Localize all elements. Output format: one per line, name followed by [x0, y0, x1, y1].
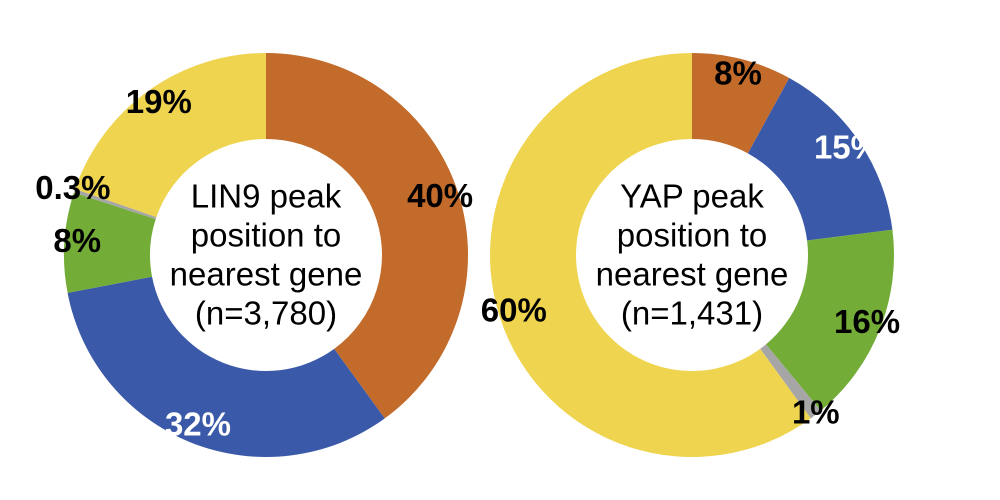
center-title-line: position to: [191, 217, 341, 254]
slice-label-lin9-1: 32%: [165, 406, 231, 443]
slice-label-lin9-3: 0.3%: [35, 169, 110, 206]
slice-label-yap-2: 16%: [834, 303, 900, 340]
slice-label-lin9-2: 8%: [53, 222, 101, 259]
center-title-line: (n=3,780): [195, 295, 337, 332]
slice-label-yap-3: 1%: [792, 393, 840, 430]
slice-label-yap-0: 8%: [714, 55, 762, 92]
figure-canvas: 40%32%8%0.3%19%LIN9 peakposition toneare…: [0, 0, 1000, 500]
slice-label-yap-1: 15%: [814, 128, 880, 165]
slice-label-lin9-4: 19%: [126, 83, 192, 120]
center-title-line: nearest gene: [596, 256, 789, 293]
donut-chart-yap: 8%15%16%1%60%YAP peakposition tonearest …: [481, 53, 900, 457]
center-title-yap: YAP peakposition tonearest gene(n=1,431): [596, 178, 789, 332]
center-title-line: position to: [617, 217, 767, 254]
donut-chart-lin9: 40%32%8%0.3%19%LIN9 peakposition toneare…: [35, 53, 473, 457]
donut-charts-svg: 40%32%8%0.3%19%LIN9 peakposition toneare…: [0, 0, 1000, 500]
center-title-line: (n=1,431): [621, 295, 763, 332]
center-title-line: LIN9 peak: [191, 178, 342, 215]
center-title-lin9: LIN9 peakposition tonearest gene(n=3,780…: [170, 178, 363, 332]
center-title-line: nearest gene: [170, 256, 363, 293]
center-title-line: YAP peak: [620, 178, 764, 215]
slice-label-lin9-0: 40%: [407, 177, 473, 214]
slice-label-yap-4: 60%: [481, 292, 547, 329]
donut-charts-container: 40%32%8%0.3%19%LIN9 peakposition toneare…: [0, 0, 1000, 500]
